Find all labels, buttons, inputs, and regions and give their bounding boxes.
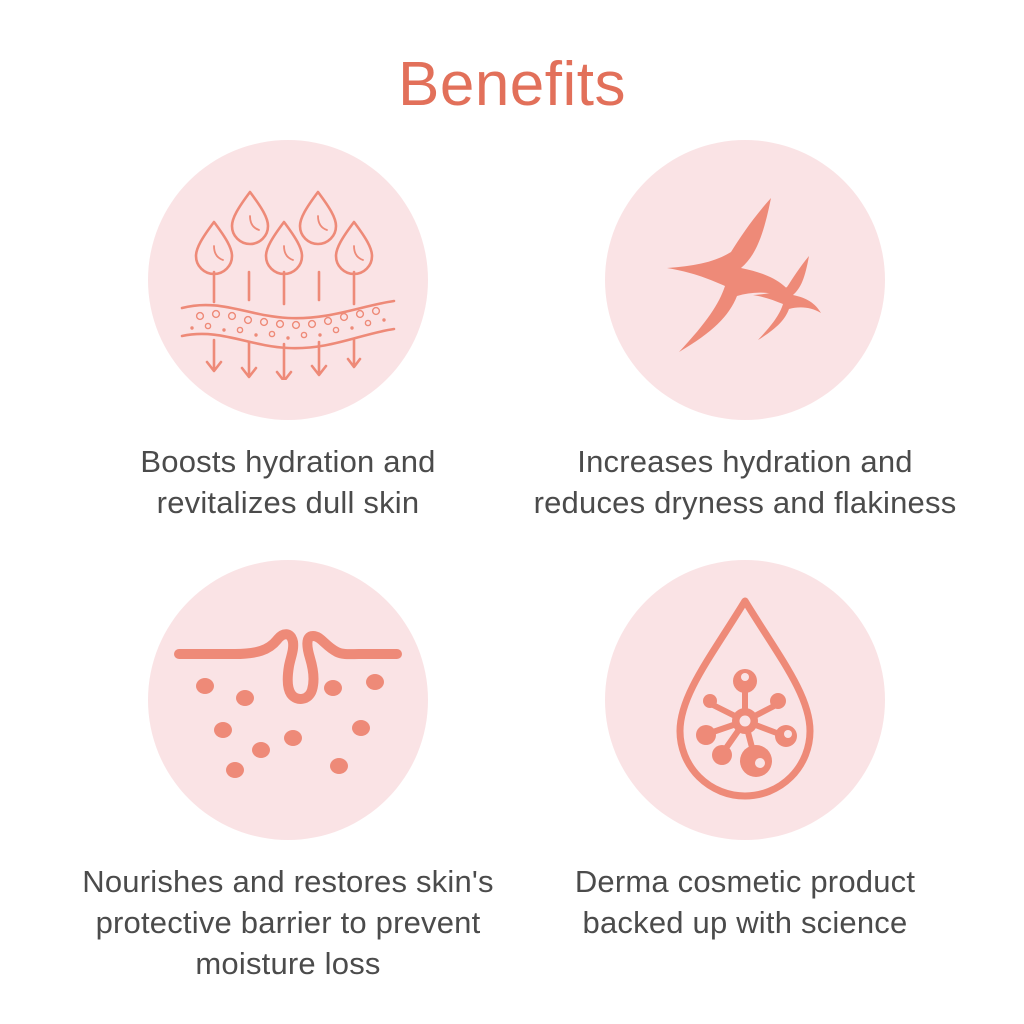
benefit-caption: Derma cosmetic product backed up with sc…: [515, 862, 975, 944]
skin-pore-icon: [173, 610, 403, 790]
benefit-caption: Nourishes and restores skin's protective…: [58, 862, 518, 985]
droplet-molecule-icon: [660, 593, 830, 808]
benefit-card-increases-hydration: Increases hydration and reduces dryness …: [515, 140, 975, 524]
benefit-caption: Boosts hydration and revitalizes dull sk…: [58, 442, 518, 524]
benefit-icon-badge: [605, 140, 885, 420]
benefit-icon-badge: [148, 560, 428, 840]
benefits-grid: Boosts hydration and revitalizes dull sk…: [0, 140, 1024, 1024]
sparkle-glow-icon: [645, 180, 845, 380]
benefits-page: Benefits: [0, 0, 1024, 1024]
benefit-icon-badge: [148, 140, 428, 420]
benefit-card-nourishes-barrier: Nourishes and restores skin's protective…: [58, 560, 518, 985]
benefit-card-boosts-hydration: Boosts hydration and revitalizes dull sk…: [58, 140, 518, 524]
benefit-card-backed-by-science: Derma cosmetic product backed up with sc…: [515, 560, 975, 944]
benefit-caption: Increases hydration and reduces dryness …: [515, 442, 975, 524]
hydration-absorption-icon: [178, 180, 398, 380]
benefit-icon-badge: [605, 560, 885, 840]
page-title: Benefits: [0, 54, 1024, 116]
